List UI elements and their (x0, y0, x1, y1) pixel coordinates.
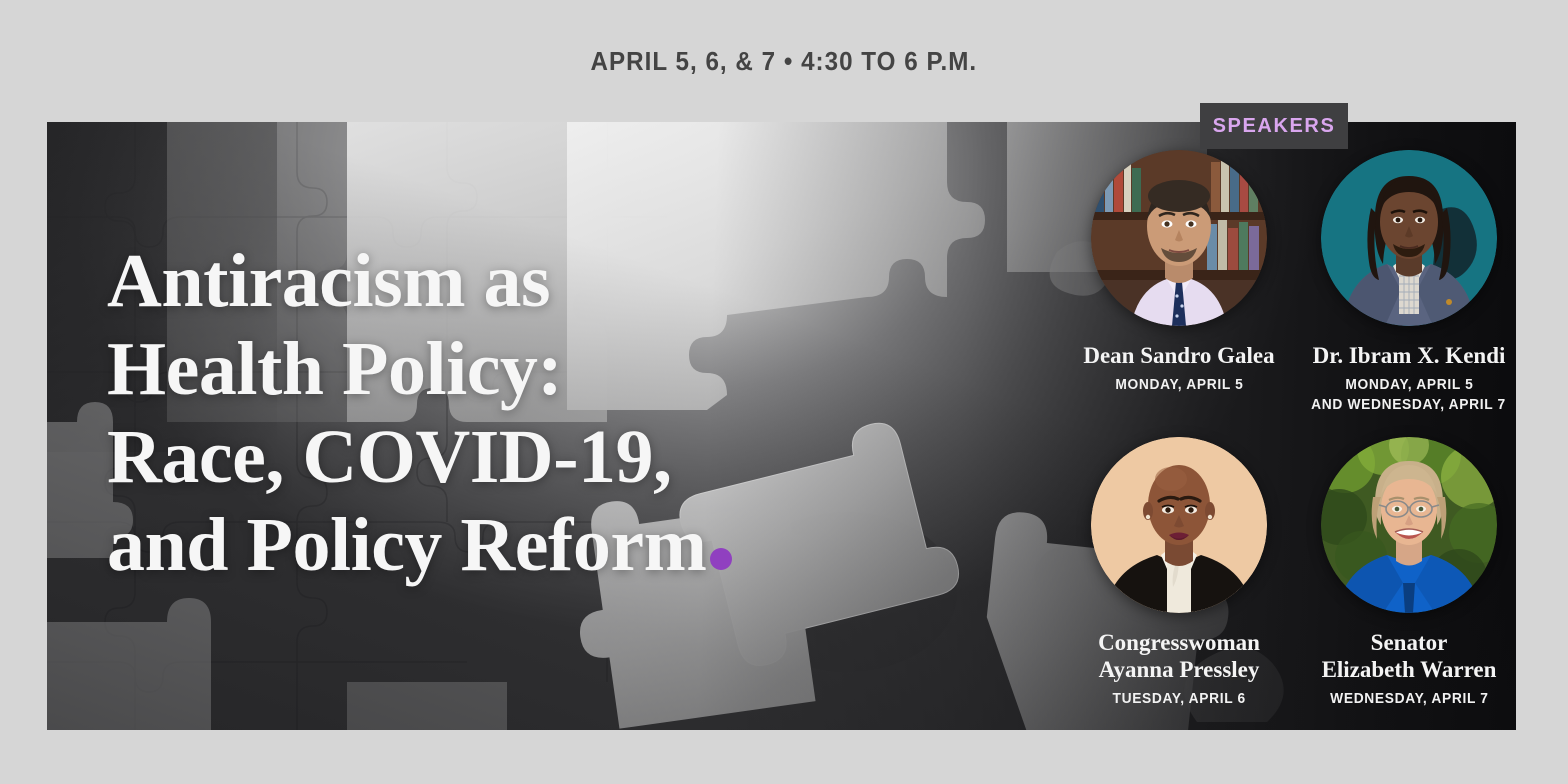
avatar-sandro-galea (1091, 150, 1267, 326)
speaker-card-sandro-galea: Dean Sandro Galea MONDAY, APRIL 5 (1069, 132, 1289, 415)
speaker-name-line-1: Congresswoman (1098, 629, 1260, 656)
avatar-ibram-x-kendi (1321, 150, 1497, 326)
speaker-card-elizabeth-warren: Senator Elizabeth Warren WEDNESDAY, APRI… (1299, 419, 1516, 709)
speaker-card-ayanna-pressley: Congresswoman Ayanna Pressley TUESDAY, A… (1069, 419, 1289, 709)
portrait-sandro-galea-icon (1091, 150, 1267, 326)
speaker-date-line-1: MONDAY, APRIL 5 (1115, 375, 1243, 395)
speaker-name: Dean Sandro Galea (1083, 342, 1274, 369)
title-line-4: and Policy Reform (107, 503, 706, 587)
event-date-line: APRIL 5, 6, & 7 • 4:30 TO 6 P.M. (591, 46, 978, 77)
portrait-ayanna-pressley-icon (1091, 437, 1267, 613)
speaker-name-line-2: Ayanna Pressley (1099, 656, 1260, 683)
title-line-2: Health Policy: (107, 325, 837, 413)
title-line-1: Antiracism as (107, 237, 837, 325)
speaker-name-line-2: Elizabeth Warren (1322, 656, 1497, 683)
event-banner: Antiracism as Health Policy: Race, COVID… (47, 122, 1516, 730)
speaker-name-line-1: Senator (1371, 629, 1448, 656)
speaker-name: Dr. Ibram X. Kendi (1313, 342, 1506, 369)
speaker-date-line-1: WEDNESDAY, APRIL 7 (1330, 689, 1488, 709)
banner-title: Antiracism as Health Policy: Race, COVID… (107, 237, 837, 589)
avatar-ayanna-pressley (1091, 437, 1267, 613)
portrait-elizabeth-warren-icon (1321, 437, 1497, 613)
portrait-ibram-x-kendi-icon (1321, 150, 1497, 326)
speakers-tag-label: SPEAKERS (1213, 115, 1336, 138)
purple-dot-icon (710, 548, 732, 570)
speaker-date-line-1: MONDAY, APRIL 5 (1345, 375, 1473, 395)
title-line-3: Race, COVID-19, (107, 413, 837, 501)
speaker-card-ibram-x-kendi: Dr. Ibram X. Kendi MONDAY, APRIL 5 AND W… (1299, 132, 1516, 415)
speaker-date-line-2: AND WEDNESDAY, APRIL 7 (1312, 395, 1507, 415)
title-line-4-wrapper: and Policy Reform (107, 501, 837, 589)
speaker-date-line-1: TUESDAY, APRIL 6 (1112, 689, 1245, 709)
speakers-grid: Dean Sandro Galea MONDAY, APRIL 5 (1069, 132, 1516, 709)
avatar-elizabeth-warren (1321, 437, 1497, 613)
speakers-tag: SPEAKERS (1200, 103, 1348, 149)
